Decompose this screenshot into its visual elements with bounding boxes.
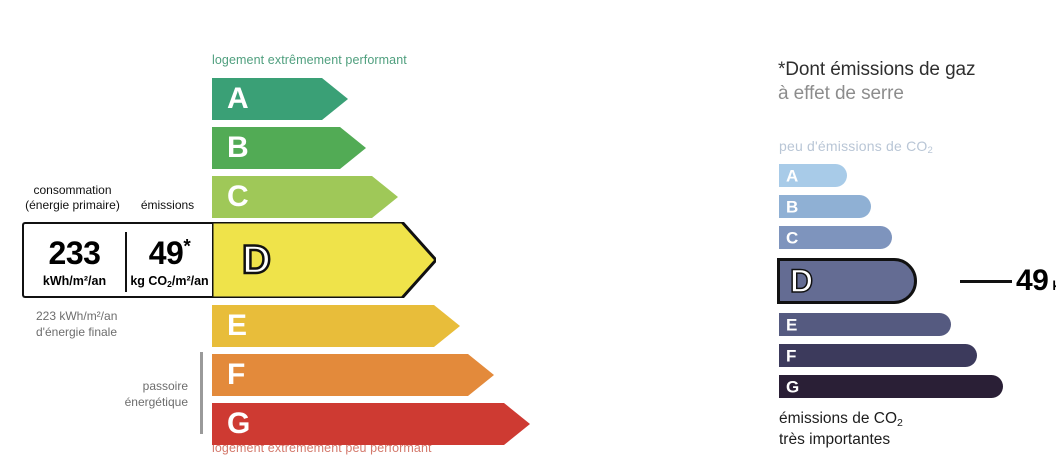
co2-class-letter-g: G <box>786 378 799 395</box>
co2-unit: kg C <box>1052 278 1056 293</box>
energy-class-letter-b: B <box>227 133 249 163</box>
co2-class-letter-e: E <box>786 316 797 333</box>
emissions-unit: kg CO2/m²/an <box>125 274 214 288</box>
energy-bar-arrow-shape <box>212 354 494 396</box>
co2-class-bar-e[interactable]: E <box>779 313 951 336</box>
energy-class-bar-c[interactable]: C <box>212 176 398 218</box>
co2-class-letter-d: D <box>790 265 813 297</box>
co2-number: 49 <box>1016 264 1048 297</box>
co2-class-bar-d[interactable]: D <box>777 258 917 304</box>
co2-caption-top: peu d'émissions de CO2 <box>779 138 933 154</box>
co2-caption-bottom-line2: très importantes <box>779 430 903 451</box>
energy-class-letter-a: A <box>227 84 249 114</box>
energy-class-letter-g: G <box>227 409 250 439</box>
co2-emissions-panel: *Dont émissions de gaz à effet de serre … <box>770 0 1056 468</box>
energy-class-bar-a[interactable]: A <box>212 78 348 120</box>
co2-class-bar-g[interactable]: G <box>779 375 1003 398</box>
energy-bar-arrow-shape <box>212 305 460 347</box>
energy-class-letter-e: E <box>227 311 247 341</box>
energy-caption-top: logement extrêmement performant <box>212 53 407 67</box>
emissions-header: émissions <box>123 198 212 213</box>
energy-class-bar-d[interactable]: D <box>212 222 436 298</box>
co2-class-bar-a[interactable]: A <box>779 164 847 187</box>
emissions-number: 49 <box>149 235 184 271</box>
emissions-cell: 49* kg CO2/m²/an <box>125 224 214 300</box>
emissions-asterisk: * <box>183 236 190 257</box>
co2-class-letter-c: C <box>786 229 798 246</box>
co2-class-letter-f: F <box>786 347 796 364</box>
energy-class-bar-b[interactable]: B <box>212 127 366 169</box>
consumption-header: consommation (énergie primaire) <box>22 183 123 213</box>
co2-class-bar-b[interactable]: B <box>779 195 871 218</box>
energy-class-bar-g[interactable]: G <box>212 403 530 445</box>
co2-caption-bottom-line1: émissions de CO2 <box>779 409 903 430</box>
energy-value-box: 233 kWh/m²/an 49* kg CO2/m²/an <box>22 222 212 298</box>
co2-class-bar-f[interactable]: F <box>779 344 977 367</box>
energy-performance-panel: logement extrêmement performant ABCDEFG … <box>0 0 600 468</box>
co2-leader-line <box>960 280 1012 283</box>
passoire-energetique-label: passoire énergétique <box>96 378 188 410</box>
consumption-value: 233 <box>24 235 125 272</box>
energy-class-letter-f: F <box>227 360 245 390</box>
dpe-label-canvas: logement extrêmement performant ABCDEFG … <box>0 0 1056 468</box>
emissions-value: 49* <box>125 235 214 272</box>
co2-class-letter-a: A <box>786 167 798 184</box>
consumption-unit: kWh/m²/an <box>24 274 125 288</box>
co2-caption-bottom: émissions de CO2 très importantes <box>779 409 903 450</box>
energy-class-letter-c: C <box>227 182 249 212</box>
co2-value-readout: 49kg C <box>1016 264 1056 298</box>
co2-footnote: *Dont émissions de gaz à effet de serre <box>778 58 1056 107</box>
energy-class-bar-f[interactable]: F <box>212 354 494 396</box>
co2-class-bar-c[interactable]: C <box>779 226 892 249</box>
final-energy-note: 223 kWh/m²/an d'énergie finale <box>36 308 117 340</box>
energy-class-letter-d: D <box>242 240 271 280</box>
energy-class-bar-e[interactable]: E <box>212 305 460 347</box>
consumption-cell: 233 kWh/m²/an <box>24 224 125 300</box>
energy-bar-arrow-shape <box>212 403 530 445</box>
passoire-bracket-line <box>200 352 203 434</box>
co2-class-letter-b: B <box>786 198 798 215</box>
